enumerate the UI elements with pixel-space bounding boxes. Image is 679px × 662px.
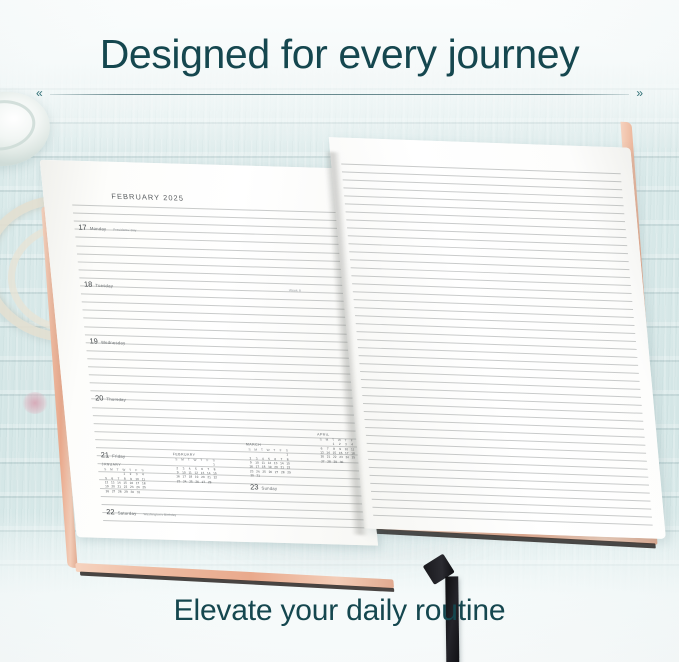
rule-line [75,237,342,246]
rule-line [88,366,355,375]
mini-calendar-day [212,480,219,484]
rule-line [87,358,354,367]
mini-calendar-day [286,474,293,478]
day-number: 18 [84,280,93,289]
chevron-right-icon: » [636,87,643,99]
mini-calendar-day [141,490,148,494]
rule-line [82,302,349,311]
left-page-ruled-lines [40,160,378,546]
day-note: Washington's Birthday [143,512,176,517]
divider-line [50,94,629,95]
rule-line [84,326,351,335]
week-marker: Week 8 [289,288,301,292]
day-name: Saturday [117,510,136,516]
day-entry: 18Tuesday [84,280,121,290]
rule-line [373,515,653,526]
planner-left-page: FEBRUARY 2025 Week 8 17MondayPresidents'… [40,160,378,546]
day-entry: 19Wednesday [89,336,133,346]
day-name: Thursday [106,397,126,403]
mini-calendar-grid: SMTWTFS123456789101112131415161718192021… [246,448,292,479]
mini-calendar-grid: SMTWTFS123456789101112131415161718192021… [102,467,148,494]
day-entry: 23Sunday [250,482,278,492]
headline-text: Designed for every journey [0,34,679,75]
day-name: Wednesday [101,340,126,346]
rule-line [89,374,356,383]
mini-calendar-grid: SMTWTFS123456789101112131415161718192021… [173,457,219,484]
right-page-ruled-lines [329,137,666,539]
rule-line [90,382,357,391]
day-number: 20 [95,393,104,402]
rule-line [86,350,353,359]
day-entry: 17MondayPresidents' Day [78,223,137,234]
day-number: 17 [78,223,87,232]
mini-calendar: MARCHSMTWTFS1234567891011121314151617181… [246,442,293,478]
rule-line [92,407,359,416]
day-name: Sunday [261,486,277,491]
rule-line [72,205,339,214]
rule-line [76,245,343,254]
day-name: Tuesday [95,283,113,288]
chevron-left-icon: « [36,87,43,99]
rule-line [94,423,361,432]
rule-line [77,253,344,262]
dried-flower-prop [22,392,48,414]
rule-line [101,496,368,505]
day-name: Monday [90,226,107,231]
subline-text: Elevate your daily routine [0,596,679,626]
rule-line [79,269,346,278]
rule-line [78,261,345,270]
day-note: Presidents' Day [113,228,137,233]
day-number: 22 [106,507,115,516]
day-number: 19 [89,336,98,345]
rule-line [73,213,340,222]
day-number: 23 [250,482,259,491]
day-number: 21 [100,450,109,459]
day-entry: 21Friday [100,450,132,460]
promo-image: FEBRUARY 2025 Week 8 17MondayPresidents'… [0,0,679,662]
mini-calendar: FEBRUARYSMTWTFS1234567891011121314151617… [173,452,220,484]
divider-rule: « » [36,90,643,100]
day-entry: 20Thursday [95,393,134,403]
rule-line [93,415,360,424]
rule-line [83,318,350,327]
planner-right-page [329,137,666,539]
open-planner-book: FEBRUARY 2025 Week 8 17MondayPresidents'… [37,107,667,582]
rule-line [81,293,348,302]
rule-line [82,310,349,319]
mini-calendar: JANUARYSMTWTFS12345678910111213141516171… [101,462,148,494]
rule-line [103,520,370,529]
day-name: Friday [112,454,126,459]
